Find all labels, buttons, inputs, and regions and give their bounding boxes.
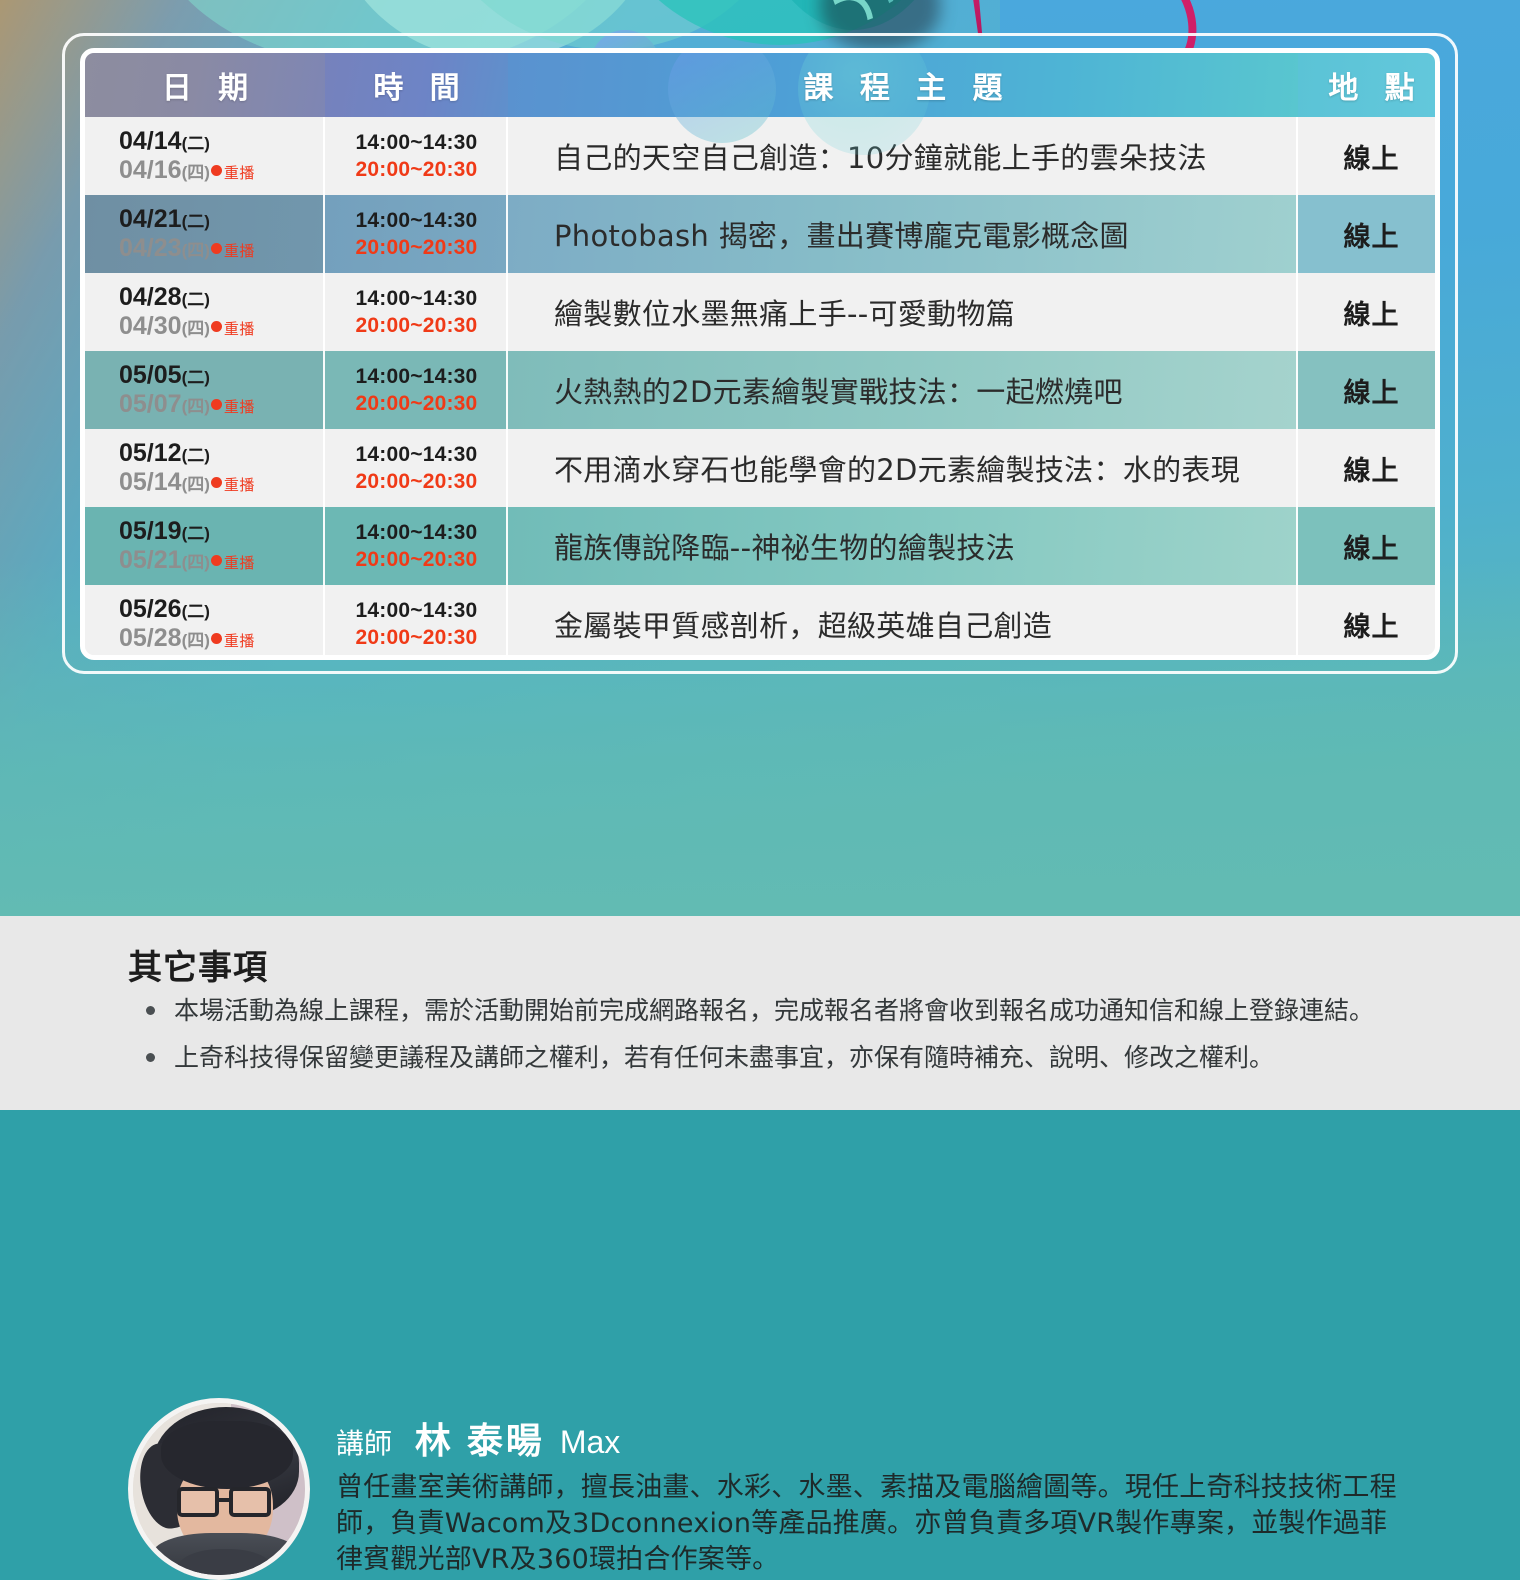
cell-place: 線上 <box>1298 507 1440 585</box>
column-header-place: 地 點 <box>1298 53 1440 117</box>
notes-section: 其它事項 本場活動為線上課程，需於活動開始前完成網路報名，完成報名者將會收到報名… <box>0 916 1520 1110</box>
speaker-label: 講師 <box>336 1428 392 1459</box>
cell-time: 14:00~14:3020:00~20:30 <box>325 273 508 351</box>
cell-time: 14:00~14:3020:00~20:30 <box>325 585 508 660</box>
time-evening: 20:00~20:30 <box>325 312 508 339</box>
list-item: 上奇科技得保留變更議程及講師之權利，若有任何未盡事宜，亦保有隨時補充、說明、修改… <box>128 1041 1378 1076</box>
time-daytime: 14:00~14:30 <box>325 285 508 312</box>
cell-topic: Photobash 揭密，畫出賽博龐克電影概念圖 <box>508 195 1298 273</box>
topic-text: 火熱熱的2D元素繪製實戰技法：一起燃燒吧 <box>508 369 1298 411</box>
column-header-time-label: 時 間 <box>364 63 468 107</box>
date-replay: 04/23(四)重播 <box>119 234 325 264</box>
column-header-time: 時 間 <box>325 53 508 117</box>
topic-text: 龍族傳說降臨--神祕生物的繪製技法 <box>508 525 1298 567</box>
time-evening: 20:00~20:30 <box>325 156 508 183</box>
date-replay: 05/28(四)重播 <box>119 624 325 654</box>
replay-label: 重播 <box>224 477 255 495</box>
cell-topic: 金屬裝甲質感剖析，超級英雄自己創造 <box>508 585 1298 660</box>
place-text: 線上 <box>1298 371 1440 410</box>
place-text: 線上 <box>1298 449 1440 488</box>
place-text: 線上 <box>1298 137 1440 176</box>
table-row: 05/26(二)05/28(四)重播14:00~14:3020:00~20:30… <box>85 585 1440 660</box>
table-row: 04/14(二)04/16(四)重播14:00~14:3020:00~20:30… <box>85 117 1440 195</box>
speaker-avatar <box>128 1398 310 1580</box>
schedule-table-container: 日 期 時 間 課 程 主 題 地 點 04/14(二)04/16(四)重播14… <box>80 48 1440 660</box>
time-daytime: 14:00~14:30 <box>325 441 508 468</box>
table-row: 05/19(二)05/21(四)重播14:00~14:3020:00~20:30… <box>85 507 1440 585</box>
date-live: 05/19(二) <box>119 517 325 547</box>
glasses-icon <box>177 1487 279 1517</box>
cell-date: 05/26(二)05/28(四)重播 <box>85 585 325 660</box>
time-daytime: 14:00~14:30 <box>325 207 508 234</box>
time-evening: 20:00~20:30 <box>325 234 508 261</box>
place-text: 線上 <box>1298 527 1440 566</box>
cell-place: 線上 <box>1298 351 1440 429</box>
speaker-name-en: Max <box>560 1424 620 1460</box>
cell-place: 線上 <box>1298 273 1440 351</box>
replay-dot-icon <box>211 165 222 176</box>
notes-title: 其它事項 <box>128 940 268 989</box>
time-evening: 20:00~20:30 <box>325 546 508 573</box>
time-daytime: 14:00~14:30 <box>325 597 508 624</box>
cell-place: 線上 <box>1298 117 1440 195</box>
replay-label: 重播 <box>224 165 255 183</box>
replay-label: 重播 <box>224 633 255 651</box>
date-replay: 04/16(四)重播 <box>119 156 325 186</box>
cell-date: 04/14(二)04/16(四)重播 <box>85 117 325 195</box>
column-header-topic: 課 程 主 題 <box>508 53 1298 117</box>
replay-label: 重播 <box>224 321 255 339</box>
cell-date: 05/19(二)05/21(四)重播 <box>85 507 325 585</box>
replay-dot-icon <box>211 321 222 332</box>
place-text: 線上 <box>1298 293 1440 332</box>
cell-time: 14:00~14:3020:00~20:30 <box>325 117 508 195</box>
table-row: 04/21(二)04/23(四)重播14:00~14:3020:00~20:30… <box>85 195 1440 273</box>
time-evening: 20:00~20:30 <box>325 624 508 651</box>
replay-dot-icon <box>211 243 222 254</box>
table-row: 05/05(二)05/07(四)重播14:00~14:3020:00~20:30… <box>85 351 1440 429</box>
replay-label: 重播 <box>224 243 255 261</box>
cell-topic: 龍族傳說降臨--神祕生物的繪製技法 <box>508 507 1298 585</box>
date-live: 04/21(二) <box>119 205 325 235</box>
topic-text: 繪製數位水墨無痛上手--可愛動物篇 <box>508 291 1298 333</box>
column-header-date: 日 期 <box>85 53 325 117</box>
cell-place: 線上 <box>1298 429 1440 507</box>
speaker-heading: 講師 林 泰暘 Max <box>336 1412 620 1464</box>
cell-date: 05/05(二)05/07(四)重播 <box>85 351 325 429</box>
bullet-icon <box>146 1053 155 1062</box>
notes-list: 本場活動為線上課程，需於活動開始前完成網路報名，完成報名者將會收到報名成功通知信… <box>128 994 1378 1087</box>
topic-text: 不用滴水穿石也能學會的2D元素繪製技法：水的表現 <box>508 447 1298 489</box>
cell-topic: 繪製數位水墨無痛上手--可愛動物篇 <box>508 273 1298 351</box>
note-text: 上奇科技得保留變更議程及講師之權利，若有任何未盡事宜，亦保有隨時補充、說明、修改… <box>174 1043 1274 1072</box>
cell-date: 04/28(二)04/30(四)重播 <box>85 273 325 351</box>
cell-time: 14:00~14:3020:00~20:30 <box>325 429 508 507</box>
schedule-table: 日 期 時 間 課 程 主 題 地 點 04/14(二)04/16(四)重播14… <box>85 53 1440 660</box>
time-evening: 20:00~20:30 <box>325 468 508 495</box>
date-replay: 04/30(四)重播 <box>119 312 325 342</box>
place-text: 線上 <box>1298 605 1440 644</box>
date-replay: 05/21(四)重播 <box>119 546 325 576</box>
date-live: 04/14(二) <box>119 127 325 157</box>
cell-time: 14:00~14:3020:00~20:30 <box>325 351 508 429</box>
date-live: 04/28(二) <box>119 283 325 313</box>
cell-date: 04/21(二)04/23(四)重播 <box>85 195 325 273</box>
note-text: 本場活動為線上課程，需於活動開始前完成網路報名，完成報名者將會收到報名成功通知信… <box>174 996 1374 1025</box>
speaker-name: 林 泰暘 <box>415 1420 545 1461</box>
date-live: 05/05(二) <box>119 361 325 391</box>
column-header-date-label: 日 期 <box>153 63 257 107</box>
cell-time: 14:00~14:3020:00~20:30 <box>325 507 508 585</box>
table-row: 04/28(二)04/30(四)重播14:00~14:3020:00~20:30… <box>85 273 1440 351</box>
date-replay: 05/07(四)重播 <box>119 390 325 420</box>
time-daytime: 14:00~14:30 <box>325 519 508 546</box>
cell-date: 05/12(二)05/14(四)重播 <box>85 429 325 507</box>
time-daytime: 14:00~14:30 <box>325 363 508 390</box>
column-header-topic-label: 課 程 主 題 <box>794 63 1011 107</box>
speaker-bio: 曾任畫室美術講師，擅長油畫、水彩、水墨、素描及電腦繪圖等。現任上奇科技技術工程師… <box>336 1470 1414 1578</box>
place-text: 線上 <box>1298 215 1440 254</box>
speaker-section: 講師 林 泰暘 Max 曾任畫室美術講師，擅長油畫、水彩、水墨、素描及電腦繪圖等… <box>0 690 1520 916</box>
cell-time: 14:00~14:3020:00~20:30 <box>325 195 508 273</box>
cell-place: 線上 <box>1298 585 1440 660</box>
table-body: 04/14(二)04/16(四)重播14:00~14:3020:00~20:30… <box>85 117 1440 660</box>
time-daytime: 14:00~14:30 <box>325 129 508 156</box>
replay-dot-icon <box>211 555 222 566</box>
replay-label: 重播 <box>224 399 255 417</box>
cell-topic: 火熱熱的2D元素繪製實戰技法：一起燃燒吧 <box>508 351 1298 429</box>
list-item: 本場活動為線上課程，需於活動開始前完成網路報名，完成報名者將會收到報名成功通知信… <box>128 994 1378 1029</box>
replay-dot-icon <box>211 399 222 410</box>
date-live: 05/26(二) <box>119 595 325 625</box>
replay-dot-icon <box>211 633 222 644</box>
cell-topic: 不用滴水穿石也能學會的2D元素繪製技法：水的表現 <box>508 429 1298 507</box>
column-header-place-label: 地 點 <box>1319 63 1423 107</box>
replay-label: 重播 <box>224 555 255 573</box>
time-evening: 20:00~20:30 <box>325 390 508 417</box>
replay-dot-icon <box>211 477 222 488</box>
table-header: 日 期 時 間 課 程 主 題 地 點 <box>85 53 1440 117</box>
topic-text: 金屬裝甲質感剖析，超級英雄自己創造 <box>508 603 1298 645</box>
topic-text: Photobash 揭密，畫出賽博龐克電影概念圖 <box>508 213 1298 255</box>
cell-place: 線上 <box>1298 195 1440 273</box>
bullet-icon <box>146 1006 155 1015</box>
date-live: 05/12(二) <box>119 439 325 469</box>
table-row: 05/12(二)05/14(四)重播14:00~14:3020:00~20:30… <box>85 429 1440 507</box>
date-replay: 05/14(四)重播 <box>119 468 325 498</box>
